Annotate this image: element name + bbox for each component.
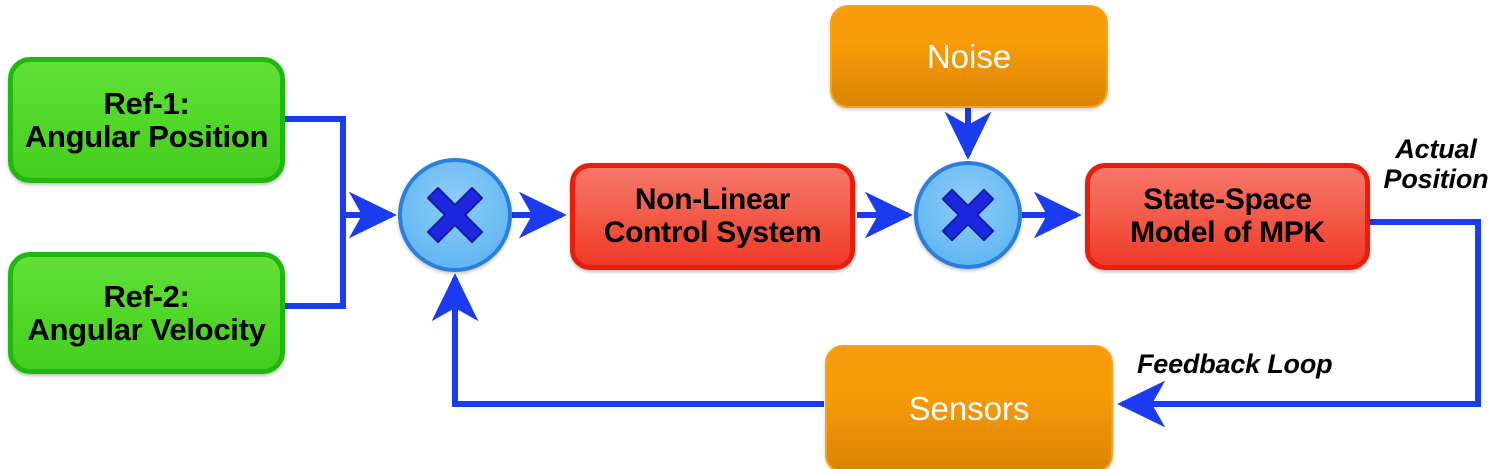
label-feedback-loop: Feedback Loop bbox=[1137, 350, 1377, 380]
wire-sensors-to-sum1 bbox=[455, 278, 824, 404]
block-ref1-line2: Angular Position bbox=[25, 120, 268, 153]
block-nonlinear-control-system[interactable]: Non-Linear Control System bbox=[570, 163, 855, 270]
block-noise-line1: Noise bbox=[927, 39, 1011, 75]
control-system-block-diagram: Ref-1: Angular Position Ref-2: Angular V… bbox=[0, 0, 1494, 469]
block-noise[interactable]: Noise bbox=[830, 5, 1108, 108]
wire-ref2-to-sum1 bbox=[283, 215, 343, 306]
label-actual-position-line1: Actual bbox=[1378, 135, 1494, 165]
label-actual-position-line2: Position bbox=[1378, 165, 1494, 195]
block-ref2-label: Ref-2: Angular Velocity bbox=[21, 280, 271, 347]
block-plant-line2: Model of MPK bbox=[1130, 217, 1325, 249]
summing-junction-1[interactable] bbox=[398, 158, 512, 272]
block-ref2-line2: Angular Velocity bbox=[27, 313, 265, 346]
block-sensors-line1: Sensors bbox=[908, 391, 1029, 427]
block-state-space-model-of-mpk[interactable]: State-Space Model of MPK bbox=[1085, 163, 1370, 270]
block-ref1-line1: Ref-1: bbox=[25, 87, 268, 120]
block-sensors[interactable]: Sensors bbox=[825, 345, 1113, 469]
label-actual-position: Actual Position bbox=[1378, 135, 1494, 194]
block-plant-label: State-Space Model of MPK bbox=[1124, 184, 1331, 249]
wire-ref1-to-sum1 bbox=[283, 119, 343, 215]
block-controller-label: Non-Linear Control System bbox=[598, 184, 828, 249]
block-noise-label: Noise bbox=[921, 39, 1017, 75]
block-ref1-angular-position[interactable]: Ref-1: Angular Position bbox=[8, 57, 285, 183]
block-controller-line2: Control System bbox=[604, 217, 822, 249]
block-plant-line1: State-Space bbox=[1130, 184, 1325, 216]
block-sensors-label: Sensors bbox=[902, 391, 1035, 427]
label-feedback-loop-line1: Feedback Loop bbox=[1137, 350, 1377, 380]
block-ref1-label: Ref-1: Angular Position bbox=[19, 87, 274, 154]
block-ref2-line1: Ref-2: bbox=[27, 280, 265, 313]
block-ref2-angular-velocity[interactable]: Ref-2: Angular Velocity bbox=[8, 252, 285, 374]
summing-junction-2[interactable] bbox=[914, 161, 1022, 269]
block-controller-line1: Non-Linear bbox=[604, 184, 822, 216]
cross-icon bbox=[939, 186, 997, 244]
cross-icon bbox=[424, 184, 486, 246]
